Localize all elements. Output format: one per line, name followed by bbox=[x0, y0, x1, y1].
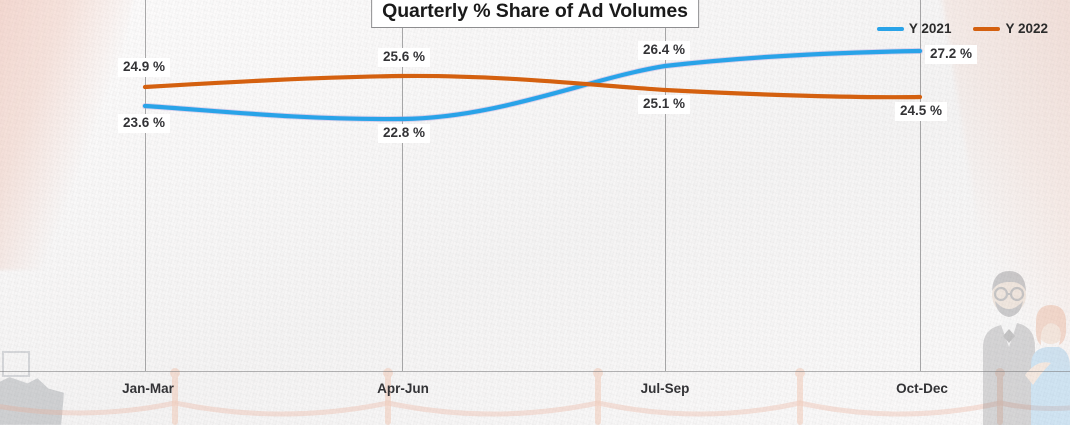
people-illustration bbox=[955, 255, 1070, 425]
data-label-y2022-jul-sep: 25.1 % bbox=[638, 95, 690, 114]
line-series-y-2021 bbox=[145, 51, 920, 119]
line-series-y-2022 bbox=[145, 76, 920, 97]
decorative-frame-bottom-left bbox=[2, 351, 30, 377]
legend-swatch-icon-y-2022 bbox=[973, 27, 1000, 31]
data-label-y2021-jan-mar: 23.6 % bbox=[118, 114, 170, 133]
legend-item-y-2021[interactable]: Y 2021 bbox=[877, 21, 952, 36]
legend-swatch-icon-y-2021 bbox=[877, 27, 904, 31]
chart-legend: Y 2021 Y 2022 bbox=[877, 21, 1048, 36]
x-axis-label-jul-sep: Jul-Sep bbox=[641, 381, 690, 396]
x-axis-label-jan-mar: Jan-Mar bbox=[122, 381, 174, 396]
legend-label-y-2022: Y 2022 bbox=[1005, 21, 1048, 36]
data-label-y2022-oct-dec: 24.5 % bbox=[895, 102, 947, 121]
chart-title: Quarterly % Share of Ad Volumes bbox=[371, 0, 699, 28]
x-axis-label-oct-dec: Oct-Dec bbox=[896, 381, 948, 396]
x-axis-label-apr-jun: Apr-Jun bbox=[377, 381, 429, 396]
decorative-curtain-left bbox=[0, 0, 139, 270]
data-label-y2021-apr-jun: 22.8 % bbox=[378, 124, 430, 143]
data-label-y2022-jan-mar: 24.9 % bbox=[118, 58, 170, 77]
data-label-y2022-apr-jun: 25.6 % bbox=[378, 48, 430, 67]
legend-item-y-2022[interactable]: Y 2022 bbox=[973, 21, 1048, 36]
x-axis-line bbox=[0, 371, 1070, 372]
data-label-y2021-oct-dec: 27.2 % bbox=[925, 45, 977, 64]
data-label-y2021-jul-sep: 26.4 % bbox=[638, 41, 690, 60]
gridline-jan-mar bbox=[145, 0, 146, 371]
gridline-oct-dec bbox=[920, 0, 921, 371]
legend-label-y-2021: Y 2021 bbox=[909, 21, 952, 36]
decorative-shape-bottom-left bbox=[0, 373, 64, 425]
slide-canvas: Quarterly % Share of Ad Volumes Y 2021 Y… bbox=[0, 0, 1070, 425]
